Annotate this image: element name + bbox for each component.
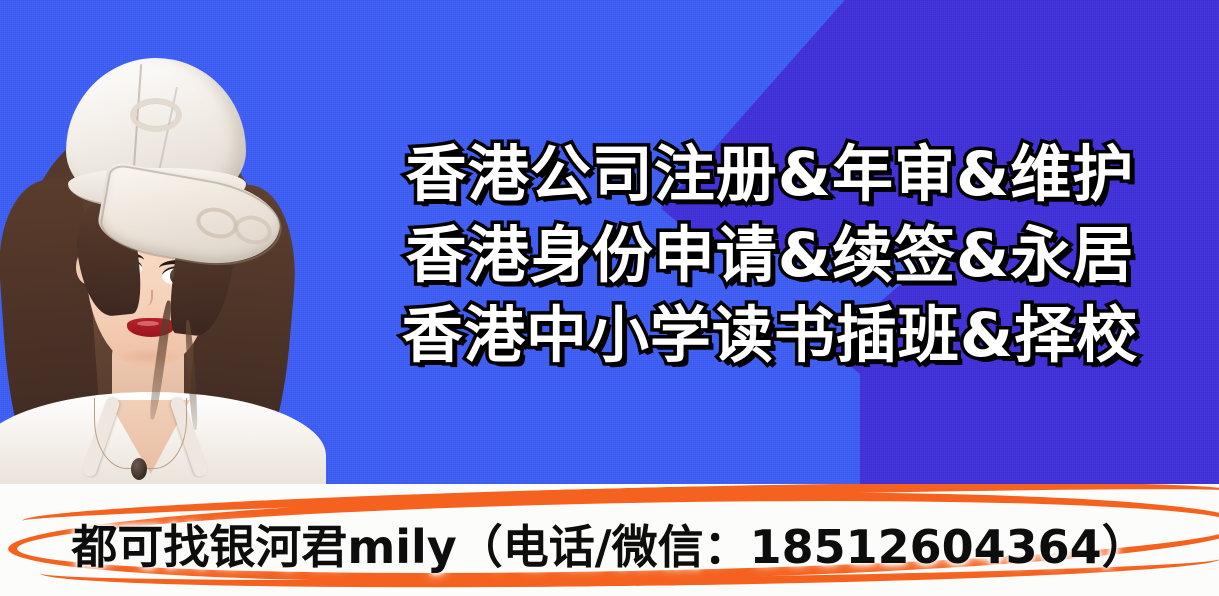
- cap-logo-icon: [130, 98, 182, 132]
- chin-shadow: [118, 348, 180, 364]
- promo-banner: 香港公司注册&年审&维护 香港身份申请&续签&永居 香港中小学读书插班&择校 都…: [0, 0, 1219, 596]
- headline-line-1: 香港公司注册&年审&维护: [406, 143, 1134, 208]
- contact-text: 都可找银河君mily（电话/微信：18512604364）: [0, 484, 1219, 596]
- woman-illustration: [0, 0, 340, 484]
- necklace-pendant: [131, 458, 147, 480]
- headline-group: 香港公司注册&年审&维护 香港身份申请&续签&永居 香港中小学读书插班&择校: [330, 0, 1210, 484]
- hero-section: 香港公司注册&年审&维护 香港身份申请&续签&永居 香港中小学读书插班&择校: [0, 0, 1219, 484]
- headline-line-3: 香港中小学读书插班&择校: [402, 304, 1138, 369]
- contact-bar: 都可找银河君mily（电话/微信：18512604364）: [0, 484, 1219, 596]
- lip-highlight: [137, 321, 159, 326]
- headline-line-2: 香港身份申请&续签&永居: [406, 224, 1134, 289]
